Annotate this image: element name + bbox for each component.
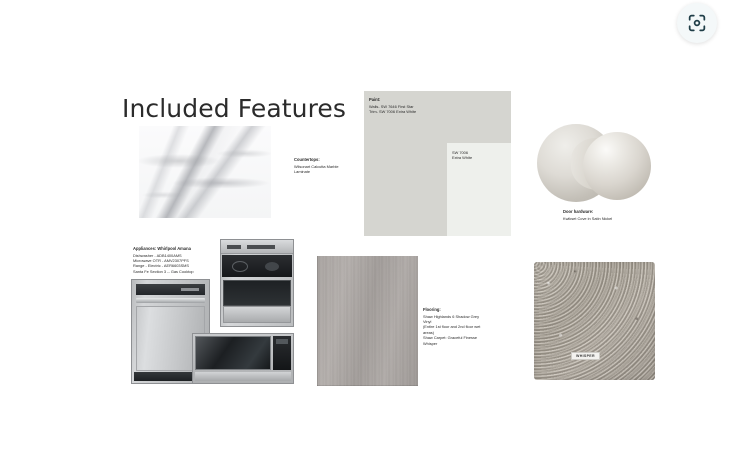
range-cooktop xyxy=(222,255,292,277)
countertops-caption: Countertops: Wilsonart Calcutta Marble L… xyxy=(294,157,364,174)
visual-search-lens-icon[interactable] xyxy=(677,3,717,43)
microwave-door xyxy=(195,336,271,370)
flooring-heading: Flooring: xyxy=(423,307,523,313)
carpet-swatch-image xyxy=(534,262,655,380)
paint-chip-name: Extra White xyxy=(452,155,508,160)
page-title: Included Features xyxy=(122,94,346,123)
over-the-range-microwave-image xyxy=(192,333,294,384)
range-oven-door xyxy=(223,280,291,306)
paint-heading: Paint: xyxy=(369,97,499,103)
paint-trim-line: Trim- SW 7006 Extra White xyxy=(369,109,499,114)
microwave-keypad xyxy=(273,336,291,370)
countertop-marble-swatch-image xyxy=(139,126,271,218)
appliance-photo-group xyxy=(131,239,294,384)
flooring-caption: Flooring: Shaw Highlands 6 Shadow Grey V… xyxy=(423,307,523,346)
flooring-line-6: Whisper xyxy=(423,341,523,346)
countertops-heading: Countertops: xyxy=(294,157,364,163)
paint-chip-caption: SW 7006 Extra White xyxy=(452,150,508,161)
range-storage-drawer xyxy=(223,306,291,323)
dishwasher-control-panel xyxy=(136,284,205,295)
door-hardware-line-1: Kwikset Cove in Satin Nickel xyxy=(563,216,673,221)
countertops-line-2: Laminate xyxy=(294,169,364,174)
microwave-vent-grille xyxy=(195,372,291,381)
vinyl-plank-flooring-swatch-image xyxy=(316,255,419,387)
electric-range-image xyxy=(220,239,294,327)
paint-caption: Paint: Walls- SW 7646 First Star Trim- S… xyxy=(369,97,499,114)
dishwasher-handle xyxy=(136,298,205,303)
included-features-board[interactable]: Included Features Countertops: Wilsonart… xyxy=(0,0,748,450)
door-hardware-heading: Door hardware: xyxy=(563,209,673,215)
image-viewer-canvas: Included Features Countertops: Wilsonart… xyxy=(0,0,748,450)
knob-ball-icon xyxy=(583,132,651,200)
carpet-swatch-label: WHISPER xyxy=(571,352,600,360)
door-knob-image xyxy=(531,108,667,214)
range-backguard xyxy=(221,240,293,254)
door-hardware-caption: Door hardware: Kwikset Cove in Satin Nic… xyxy=(563,209,673,221)
